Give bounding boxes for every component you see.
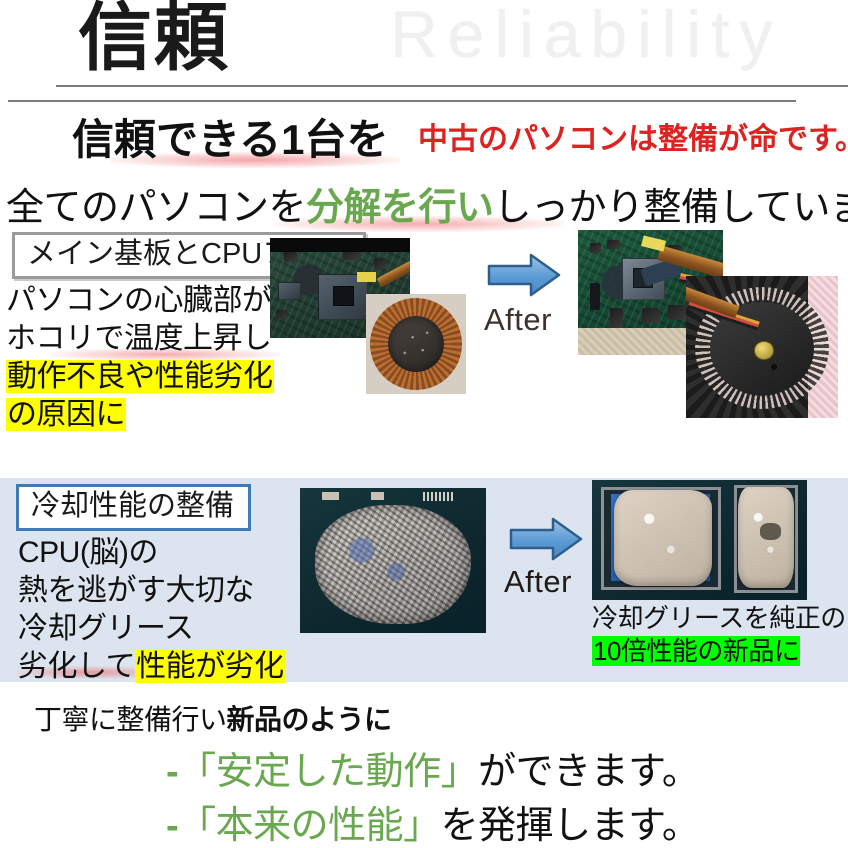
page-title: 信頼 bbox=[78, 0, 230, 78]
subtitle-red-note: 中古のパソコンは整備が命です。 bbox=[418, 114, 848, 158]
after-label-2: After bbox=[504, 564, 572, 600]
section2-caption-line-2: 10倍性能の新品に bbox=[592, 636, 800, 666]
footer-line-2: -「安定した動作」ができます。 bbox=[166, 740, 699, 795]
section-cooling: 冷却性能の整備 CPU(脳)の 熱を逃がす大切な 冷却グリース 劣化して性能が劣… bbox=[0, 478, 848, 682]
photo-fan-after bbox=[686, 276, 838, 418]
footer-line-2-green: 「安定した動作」 bbox=[178, 751, 478, 793]
lead-text-highlight: 分解を行い bbox=[306, 187, 494, 229]
divider-top bbox=[56, 85, 848, 87]
divider-bottom bbox=[8, 100, 796, 102]
arrow-right-icon bbox=[487, 252, 561, 298]
section2-caption-line-1: 冷却グリースを純正の bbox=[592, 602, 848, 635]
section-mainboard-fan: メイン基板とCPUファン パソコンの心臓部が ホコリで温度上昇し 動作不良や性能… bbox=[0, 230, 848, 470]
lead-text-before: 全てのパソコンを bbox=[6, 187, 306, 229]
section1-line-1: パソコンの心臓部が bbox=[6, 282, 306, 320]
footer-line-3-dash: - bbox=[166, 805, 178, 847]
footer-line-1: 丁寧に整備行い新品のように bbox=[34, 698, 392, 738]
subtitle-main: 信頼できる1台を bbox=[72, 106, 389, 167]
poster-root: Reliability 信頼 信頼できる1台を 中古のパソコンは整備が命です。 … bbox=[0, 0, 848, 848]
watermark-reliability: Reliability bbox=[390, 0, 782, 72]
lead-text-after: しっかり整備しています。 bbox=[494, 187, 848, 229]
photo-fan-before bbox=[366, 294, 466, 394]
section1-body: パソコンの心臓部が ホコリで温度上昇し 動作不良や性能劣化 の原因に bbox=[6, 282, 306, 434]
arrow-right-icon bbox=[509, 516, 583, 562]
section2-line-3: 冷却グリース bbox=[18, 610, 318, 648]
section2-caption: 冷却グリースを純正の 10倍性能の新品に bbox=[592, 602, 848, 667]
section2-body: CPU(脳)の 熱を逃がす大切な 冷却グリース 劣化して性能が劣化 bbox=[18, 534, 318, 686]
footer-line-3: -「本来の性能」を発揮します。 bbox=[166, 794, 699, 848]
footer-line-3-rest: を発揮します。 bbox=[441, 805, 700, 847]
lead-statement: 全てのパソコンを分解を行いしっかり整備しています。 bbox=[6, 176, 848, 228]
section2-line-4-plain: 劣化して bbox=[18, 650, 135, 683]
photo-grease-after bbox=[592, 480, 807, 600]
footer-conclusion: 丁寧に整備行い新品のように -「安定した動作」ができます。 -「本来の性能」を発… bbox=[0, 690, 848, 848]
section1-line-2: ホコリで温度上昇し bbox=[6, 320, 306, 358]
footer-line-1-plain: 丁寧に整備行い bbox=[34, 704, 227, 735]
subtitle-row: 信頼できる1台を 中古のパソコンは整備が命です。 bbox=[0, 106, 848, 164]
arrow-after-1 bbox=[487, 252, 561, 303]
section1-line-4: の原因に bbox=[6, 398, 126, 431]
footer-line-1-bold: 新品のように bbox=[227, 704, 392, 735]
section2-line-4-highlight: 性能が劣化 bbox=[135, 650, 285, 683]
after-label-1: After bbox=[484, 302, 552, 338]
arrow-after-2 bbox=[509, 516, 583, 567]
photo-grease-before bbox=[300, 488, 486, 633]
footer-line-2-dash: - bbox=[166, 751, 178, 793]
section2-line-1: CPU(脳)の bbox=[18, 534, 318, 572]
section2-line-2: 熱を逃がす大切な bbox=[18, 572, 318, 610]
section1-line-3: 動作不良や性能劣化 bbox=[6, 360, 274, 393]
footer-line-3-green: 「本来の性能」 bbox=[178, 805, 441, 847]
section2-tag: 冷却性能の整備 bbox=[16, 484, 251, 531]
footer-line-2-rest: ができます。 bbox=[478, 751, 699, 793]
